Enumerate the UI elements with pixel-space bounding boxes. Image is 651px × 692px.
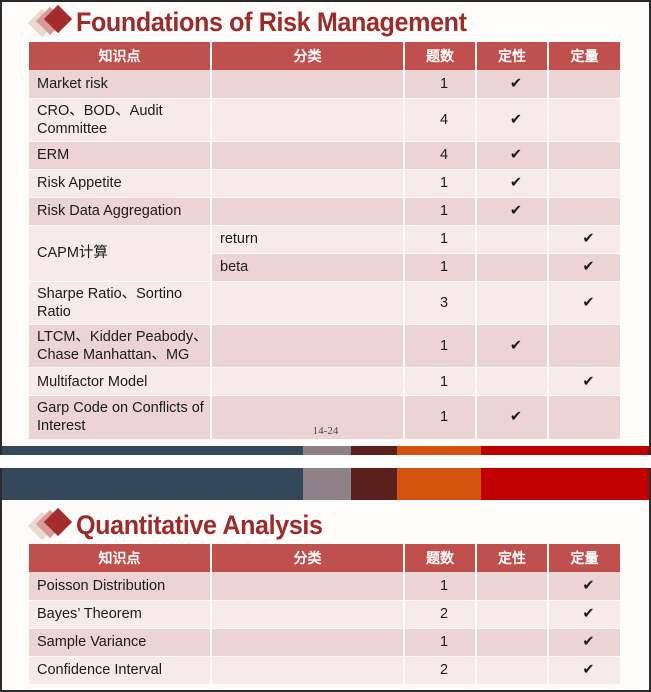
col-header-quantitative: 定量 — [548, 42, 620, 70]
slide1-page-number: 14-24 — [2, 425, 649, 437]
cell-category — [211, 141, 404, 169]
cell-knowledge-point: CAPM计算 — [29, 225, 211, 281]
cell-count: 3 — [404, 281, 476, 324]
col-header-category: 分类 — [211, 42, 404, 70]
slide2-title-row: Quantitative Analysis — [2, 500, 649, 544]
col-header-count: 题数 — [404, 544, 476, 572]
cell-qualitative — [476, 253, 548, 281]
cell-category — [211, 169, 404, 197]
table-row: CAPM计算 return 1 ✔ — [29, 225, 620, 253]
cell-quantitative: ✔ — [548, 656, 620, 684]
cell-knowledge-point: Risk Data Aggregation — [29, 197, 211, 225]
cell-knowledge-point: Sharpe Ratio、Sortino Ratio — [29, 281, 211, 324]
cell-category — [211, 368, 404, 396]
cell-qualitative — [476, 656, 548, 684]
table-row: Sample Variance 1 ✔ — [29, 628, 620, 656]
cell-category — [211, 628, 404, 656]
col-header-qualitative: 定性 — [476, 544, 548, 572]
slide2-title: Quantitative Analysis — [76, 510, 323, 541]
table-row: CRO、BOD、Audit Committee 4 ✔ — [29, 98, 620, 141]
stripe-segment-navy — [2, 468, 303, 500]
stripe-segment-orange — [397, 468, 481, 500]
cell-qualitative: ✔ — [476, 197, 548, 225]
cell-qualitative: ✔ — [476, 325, 548, 368]
cell-quantitative: ✔ — [548, 225, 620, 253]
col-header-qualitative: 定性 — [476, 42, 548, 70]
stripe-segment-maroon — [351, 468, 396, 500]
cell-category — [211, 600, 404, 628]
cell-category — [211, 70, 404, 98]
cell-quantitative: ✔ — [548, 253, 620, 281]
stripe-segment-gray — [303, 446, 352, 455]
cell-qualitative — [476, 368, 548, 396]
cell-quantitative: ✔ — [548, 572, 620, 600]
table-row: LTCM、Kidder Peabody、Chase Manhattan、MG 1… — [29, 325, 620, 368]
cell-count: 1 — [404, 628, 476, 656]
cell-knowledge-point: CRO、BOD、Audit Committee — [29, 98, 211, 141]
cell-knowledge-point: Multifactor Model — [29, 368, 211, 396]
slide2-table-header-row: 知识点 分类 题数 定性 定量 — [29, 544, 620, 572]
slide1-footer-stripe — [2, 446, 649, 455]
cell-count: 1 — [404, 368, 476, 396]
slide1-title: Foundations of Risk Management — [76, 7, 467, 38]
cell-qualitative: ✔ — [476, 141, 548, 169]
cell-qualitative — [476, 281, 548, 324]
slide1-table-header-row: 知识点 分类 题数 定性 定量 — [29, 42, 620, 70]
stripe-segment-orange — [397, 446, 481, 455]
table-row: Bayes’ Theorem 2 ✔ — [29, 600, 620, 628]
cell-qualitative: ✔ — [476, 169, 548, 197]
cell-quantitative: ✔ — [548, 281, 620, 324]
cell-knowledge-point: Confidence Interval — [29, 656, 211, 684]
slide1-table-wrap: 知识点 分类 题数 定性 定量 Market risk 1 ✔ — [2, 42, 649, 440]
cell-count: 4 — [404, 141, 476, 169]
cell-count: 1 — [404, 572, 476, 600]
table-row: Confidence Interval 2 ✔ — [29, 656, 620, 684]
stripe-segment-red — [481, 446, 649, 455]
cell-quantitative — [548, 169, 620, 197]
cell-count: 1 — [404, 225, 476, 253]
cell-qualitative: ✔ — [476, 98, 548, 141]
cell-category: return — [211, 225, 404, 253]
cell-category — [211, 325, 404, 368]
cell-knowledge-point: Risk Appetite — [29, 169, 211, 197]
slide-quantitative-analysis: Quantitative Analysis 知识点 分类 题数 定性 定量 — [0, 468, 651, 692]
stripe-segment-gray — [303, 468, 352, 500]
cell-knowledge-point: LTCM、Kidder Peabody、Chase Manhattan、MG — [29, 325, 211, 368]
cell-category — [211, 197, 404, 225]
cell-quantitative: ✔ — [548, 600, 620, 628]
cell-category — [211, 281, 404, 324]
cell-quantitative: ✔ — [548, 368, 620, 396]
slide2-header-stripe — [2, 468, 649, 500]
cell-category: beta — [211, 253, 404, 281]
cell-qualitative: ✔ — [476, 70, 548, 98]
cell-category — [211, 572, 404, 600]
col-header-quantitative: 定量 — [548, 544, 620, 572]
presentation-page: Foundations of Risk Management 知识点 分类 题数… — [0, 0, 651, 692]
cell-qualitative — [476, 628, 548, 656]
stripe-segment-red — [481, 468, 649, 500]
slide-foundations-of-risk-management: Foundations of Risk Management 知识点 分类 题数… — [0, 0, 651, 455]
cell-category — [211, 98, 404, 141]
col-header-knowledge-point: 知识点 — [29, 42, 211, 70]
cell-knowledge-point: ERM — [29, 141, 211, 169]
slide-separator — [0, 455, 651, 468]
table-row: Sharpe Ratio、Sortino Ratio 3 ✔ — [29, 281, 620, 324]
cell-quantitative: ✔ — [548, 628, 620, 656]
table-row: Multifactor Model 1 ✔ — [29, 368, 620, 396]
table-row: Market risk 1 ✔ — [29, 70, 620, 98]
cell-quantitative — [548, 325, 620, 368]
cell-qualitative — [476, 225, 548, 253]
diamond-logo-icon — [32, 509, 76, 541]
cell-quantitative — [548, 141, 620, 169]
slide1-title-row: Foundations of Risk Management — [2, 2, 649, 42]
cell-quantitative — [548, 98, 620, 141]
cell-count: 4 — [404, 98, 476, 141]
table-row: Poisson Distribution 1 ✔ — [29, 572, 620, 600]
slide2-table-wrap: 知识点 分类 题数 定性 定量 Poisson Distribution 1 ✔ — [2, 544, 649, 685]
cell-qualitative — [476, 572, 548, 600]
stripe-segment-navy — [2, 446, 303, 455]
cell-quantitative — [548, 70, 620, 98]
col-header-category: 分类 — [211, 544, 404, 572]
cell-knowledge-point: Bayes’ Theorem — [29, 600, 211, 628]
cell-count: 2 — [404, 600, 476, 628]
table-row: Risk Data Aggregation 1 ✔ — [29, 197, 620, 225]
col-header-knowledge-point: 知识点 — [29, 544, 211, 572]
cell-count: 1 — [404, 70, 476, 98]
table-row: Risk Appetite 1 ✔ — [29, 169, 620, 197]
cell-knowledge-point: Sample Variance — [29, 628, 211, 656]
cell-qualitative — [476, 600, 548, 628]
stripe-segment-maroon — [351, 446, 396, 455]
diamond-logo-icon — [32, 6, 76, 38]
cell-count: 2 — [404, 656, 476, 684]
col-header-count: 题数 — [404, 42, 476, 70]
cell-count: 1 — [404, 169, 476, 197]
cell-knowledge-point: Poisson Distribution — [29, 572, 211, 600]
cell-category — [211, 656, 404, 684]
cell-count: 1 — [404, 253, 476, 281]
table-row: ERM 4 ✔ — [29, 141, 620, 169]
cell-knowledge-point: Market risk — [29, 70, 211, 98]
cell-count: 1 — [404, 325, 476, 368]
slide2-knowledge-table: 知识点 分类 题数 定性 定量 Poisson Distribution 1 ✔ — [29, 544, 620, 685]
cell-quantitative — [548, 197, 620, 225]
slide1-knowledge-table: 知识点 分类 题数 定性 定量 Market risk 1 ✔ — [29, 42, 620, 440]
cell-count: 1 — [404, 197, 476, 225]
